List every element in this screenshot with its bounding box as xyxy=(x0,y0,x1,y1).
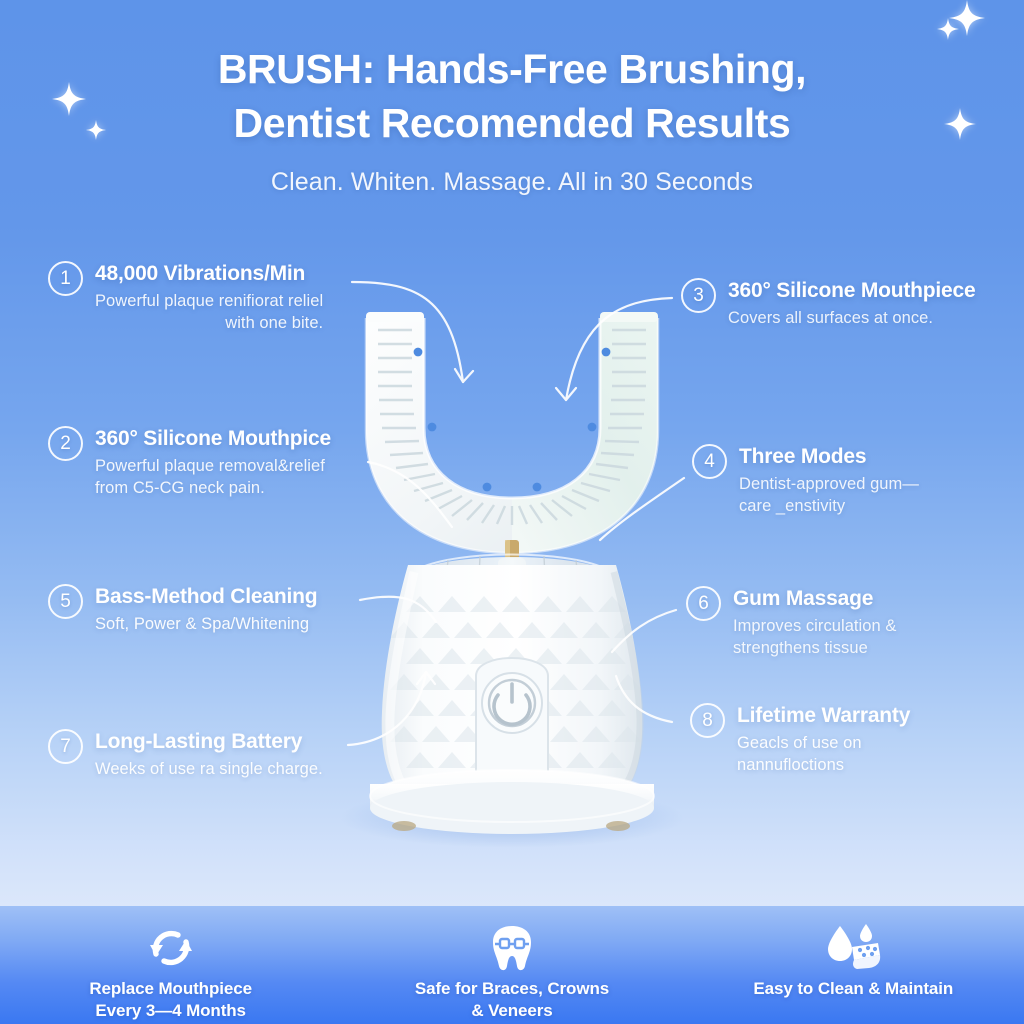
footer-label-3: Easy to Clean & Maintain xyxy=(753,978,953,1000)
mouthpiece-stem xyxy=(498,540,526,574)
title-line-2: Dentist Recomended Results xyxy=(90,96,934,150)
connector-7 xyxy=(348,672,426,745)
feature-title-7: Long-Lasting Battery xyxy=(95,729,323,755)
header: BRUSH: Hands-Free Brushing, Dentist Reco… xyxy=(0,42,1024,198)
handle-body xyxy=(382,565,643,796)
feature-callout-1[interactable]: 1 48,000 Vibrations/Min Powerful plaque … xyxy=(48,260,323,334)
feature-desc-3: Covers all surfaces at once. xyxy=(728,307,976,329)
feature-callout-8[interactable]: 8 Lifetime Warranty Geacls of use on nan… xyxy=(690,702,910,776)
bristle-ridges xyxy=(378,330,646,525)
handle-collar xyxy=(408,555,616,587)
feature-desc-2: Powerful plaque removal&relief from C5-C… xyxy=(95,455,331,499)
feature-title-3: 360° Silicone Mouthpiece xyxy=(728,278,976,304)
feature-desc-6: Improves circulation & strengthens tissu… xyxy=(733,615,896,659)
feature-callout-6[interactable]: 6 Gum Massage Improves circulation & str… xyxy=(686,585,896,659)
feature-desc-1: Powerful plaque renifiorat reliel with o… xyxy=(95,290,323,334)
feature-number-3: 3 xyxy=(681,278,716,313)
water-drop-sponge-icon xyxy=(821,920,885,976)
feature-desc-4: Dentist-approved gum— care _enstivity xyxy=(739,473,919,517)
feature-title-4: Three Modes xyxy=(739,444,919,470)
connector-8 xyxy=(616,676,672,722)
feature-callout-2[interactable]: 2 360° Silicone Mouthpice Powerful plaqu… xyxy=(48,425,331,499)
footer-item-replace-mouthpiece[interactable]: Replace Mouthpiece Every 3—4 Months xyxy=(21,920,321,1022)
connector-4 xyxy=(600,478,684,540)
footer-item-easy-to-clean[interactable]: Easy to Clean & Maintain xyxy=(703,920,1003,1000)
power-button xyxy=(476,658,548,798)
connector-5 xyxy=(360,597,436,622)
footer-item-safe-for-braces[interactable]: Safe for Braces, Crowns & Veneers xyxy=(362,920,662,1022)
feature-title-6: Gum Massage xyxy=(733,586,896,612)
feature-title-8: Lifetime Warranty xyxy=(737,703,910,729)
feature-callout-7[interactable]: 7 Long-Lasting Battery Weeks of use ra s… xyxy=(48,728,323,780)
connector-6 xyxy=(612,610,676,652)
infographic-canvas: BRUSH: Hands-Free Brushing, Dentist Reco… xyxy=(0,0,1024,1024)
feature-callout-3[interactable]: 3 360° Silicone Mouthpiece Covers all su… xyxy=(681,277,976,329)
connector-2 xyxy=(368,462,452,527)
feature-number-4: 4 xyxy=(692,444,727,479)
tooth-braces-icon xyxy=(487,920,537,976)
connector-3 xyxy=(566,298,672,400)
feature-desc-8: Geacls of use on nannufloctions xyxy=(737,732,910,776)
base-foot xyxy=(392,821,416,831)
feature-number-1: 1 xyxy=(48,261,83,296)
feature-desc-5: Soft, Power & Spa/Whitening xyxy=(95,613,317,635)
charging-base xyxy=(370,770,654,834)
grip-texture xyxy=(390,596,642,768)
feature-callout-5[interactable]: 5 Bass-Method Cleaning Soft, Power & Spa… xyxy=(48,583,317,635)
feature-number-2: 2 xyxy=(48,426,83,461)
feature-title-5: Bass-Method Cleaning xyxy=(95,584,317,610)
feature-desc-7: Weeks of use ra single charge. xyxy=(95,758,323,780)
footer-label-1: Replace Mouthpiece Every 3—4 Months xyxy=(89,978,252,1022)
power-icon-ring xyxy=(489,680,535,726)
feature-callout-4[interactable]: 4 Three Modes Dentist-approved gum— care… xyxy=(692,443,919,517)
product-shadow xyxy=(340,788,684,848)
footer-label-2: Safe for Braces, Crowns & Veneers xyxy=(415,978,609,1022)
feature-number-8: 8 xyxy=(690,703,725,738)
feature-number-6: 6 xyxy=(686,586,721,621)
base-foot xyxy=(606,821,630,831)
sparkle-icon xyxy=(937,18,959,40)
feature-number-7: 7 xyxy=(48,729,83,764)
nozzle-dots xyxy=(414,348,611,492)
feature-title-2: 360° Silicone Mouthpice xyxy=(95,426,331,452)
page-title: BRUSH: Hands-Free Brushing, Dentist Reco… xyxy=(0,42,1024,150)
silicone-mouthpiece xyxy=(366,312,658,553)
title-line-1: BRUSH: Hands-Free Brushing, xyxy=(90,42,934,96)
connector-1 xyxy=(352,282,463,382)
sparkle-icon xyxy=(949,0,985,36)
power-icon xyxy=(494,684,530,724)
feature-number-5: 5 xyxy=(48,584,83,619)
footer-bar: Replace Mouthpiece Every 3—4 Months Safe… xyxy=(0,906,1024,1024)
feature-title-1: 48,000 Vibrations/Min xyxy=(95,261,323,287)
refresh-cycle-icon xyxy=(144,920,198,976)
page-subtitle: Clean. Whiten. Massage. All in 30 Second… xyxy=(0,166,1024,198)
